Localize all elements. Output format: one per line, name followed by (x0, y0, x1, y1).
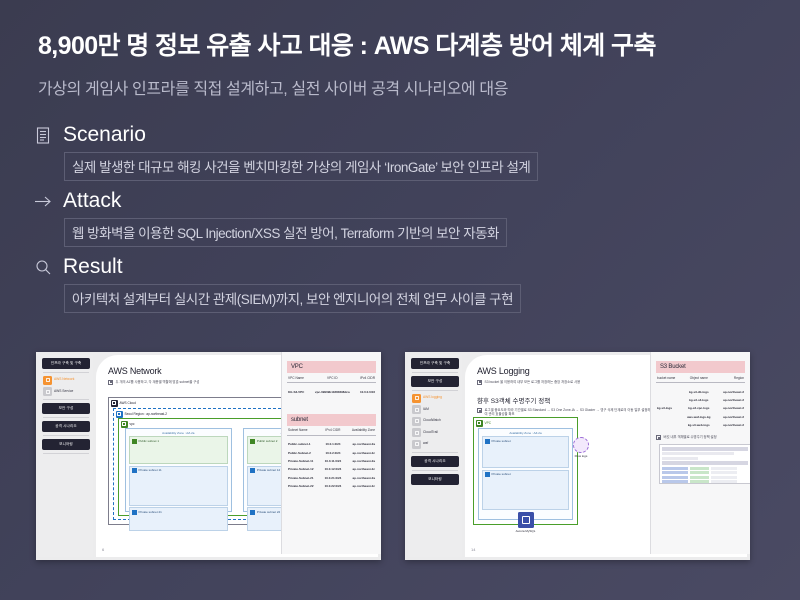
section-scenario-label: Scenario (63, 123, 146, 147)
sidebar-item-aws-network[interactable]: AWS Network (43, 376, 90, 385)
cell-subnet-az: ap-northeast-2a (345, 457, 376, 465)
sidebar-item-label: CloudWatch (423, 419, 441, 423)
screenshot-row (662, 480, 748, 483)
checkbox-icon (477, 380, 482, 385)
screenshot-status (690, 467, 709, 470)
section-result: Result 아키텍처 설계부터 실시간 관제(SIEM)까지, 보안 엔지니어… (34, 255, 800, 313)
slide-right-sidebar: 인프라 구축 및 구축 보안 구성 AWS logging IAM CloudW… (408, 355, 462, 557)
column-header: Subnet Name (287, 426, 321, 436)
subnet-icon (250, 510, 255, 515)
subnet-icon (250, 468, 255, 473)
sidebar-divider (412, 372, 458, 373)
slide-right-note2: 로그별 중요도와 따라 기간별로 S3 Standard → S3 One Zo… (477, 408, 652, 417)
sidebar-divider (43, 453, 89, 454)
cell-region: ap-northeast-2 (715, 396, 745, 404)
availability-zone-2a: Availability Zone : AZ-2a Private subnet… (478, 428, 573, 520)
subnet-label: Private subnet 22 (257, 510, 280, 514)
cell-bucket-name (656, 387, 682, 395)
cloudwatch-icon (412, 417, 421, 426)
sidebar-divider (412, 390, 458, 391)
table-row: Private-Subnet-11 10.0.11.0/24 ap-northe… (287, 457, 376, 465)
column-header: Region (715, 373, 745, 383)
slide-right-tables: S3 Bucket bucket name Object name Region… (650, 352, 750, 554)
cell-object-name: kg-s3-vpc-logs (682, 404, 715, 412)
screenshot-line (662, 452, 734, 455)
screenshot-status (690, 471, 709, 474)
column-header: bucket name (656, 373, 682, 383)
sidebar-pill-infra[interactable]: 인프라 구축 및 구축 (411, 358, 459, 369)
screenshot-cell (711, 476, 737, 479)
cell-subnet-az: ap-northeast-2a (345, 474, 376, 482)
arrow-right-icon (34, 192, 53, 211)
section-result-desc: 아키텍처 설계부터 실시간 관제(SIEM)까지, 보안 엔지니어의 전체 업무… (64, 284, 521, 313)
slide-left-tables: VPC VPC Name VPC ID IPv4 CIDR KG-S3-VPC … (281, 352, 381, 554)
sidebar-pill-attack[interactable]: 공격 시나리오 (411, 456, 459, 467)
vpc-label: VPC (474, 418, 577, 427)
subnet-icon (132, 510, 137, 515)
slide-right-page-number: 14 (471, 547, 475, 552)
cell-subnet-cidr: 10.0.2.0/24 (321, 449, 344, 457)
table-row: aws-waf-logs-kg ap-northeast-2 (656, 413, 745, 421)
vpc-table: VPC VPC Name VPC ID IPv4 CIDR KG-S3-VPC … (287, 361, 376, 396)
page-title: 8,900만 명 정보 유출 사고 대응 : AWS 다계층 방어 체계 구축 (38, 26, 800, 62)
cell-bucket-name (656, 396, 682, 404)
checkbox-icon (108, 380, 113, 385)
cell-subnet-name: Private-Subnet-21 (287, 474, 321, 482)
cell-subnet-az: ap-northeast-2a (345, 440, 376, 448)
cell-subnet-cidr: 10.0.11.0/24 (321, 457, 344, 465)
screenshot-link (662, 476, 688, 479)
section-attack-desc: 웹 방화벽을 이용한 SQL Injection/XSS 실전 방어, Terr… (64, 218, 507, 247)
private-subnet-11: Private subnet 11 (129, 466, 228, 506)
sidebar-pill-security[interactable]: 보안 구성 (411, 376, 459, 387)
region-icon (116, 411, 123, 418)
public-subnet-1: Public subnet 1 (129, 436, 228, 464)
column-header: VPC ID (310, 373, 355, 383)
section-scenario-desc: 실제 발생한 대규모 해킹 사건을 벤치마킹한 가상의 게임사 ‘IronGat… (64, 152, 538, 181)
screenshot-status (690, 480, 709, 483)
table-row: KG-S3-VPC vpc-09909b11883698dca 10.0.0.0… (287, 387, 376, 395)
table-row: kg-s3-db-logs ap-northeast-2 (656, 387, 745, 395)
cell-subnet-name: Public-Subnet-2 (287, 449, 321, 457)
document-icon (34, 126, 53, 145)
section-attack-head: Attack (34, 189, 800, 213)
cell-vpc-name: KG-S3-VPC (287, 387, 310, 395)
screenshot-link (662, 480, 688, 483)
section-result-label: Result (63, 255, 123, 279)
subnet-label: Private subnet 21 (139, 510, 162, 514)
slide-thumbnail-network[interactable]: 인프라 구축 및 구축 AWS Network AWS Service 보안 구… (36, 352, 381, 560)
flow-logs-label: Flow logs (565, 454, 597, 458)
section-scenario: Scenario 실제 발생한 대규모 해킹 사건을 벤치마킹한 가상의 게임사… (34, 123, 800, 181)
screenshot-link (662, 467, 688, 470)
subnet-label: Private subnet 11 (139, 468, 162, 472)
sidebar-divider (412, 452, 458, 453)
label-text: Seoul Region : ap-northeast-2 (125, 412, 168, 416)
private-subnet-lower: Private subnet (482, 470, 569, 510)
screenshot-toolbar (662, 461, 748, 465)
aurora-mysql-label: Aurora MySQL (479, 529, 572, 533)
table-row: Public-Subnet-2 10.0.2.0/24 ap-northeast… (287, 449, 376, 457)
lifecycle-note: 버킷 내부 객체별로 수명주기 정책 설정 (656, 435, 746, 440)
label-text: AWS Cloud (120, 401, 136, 405)
cell-region: ap-northeast-2 (715, 404, 745, 412)
table-row: Private-Subnet-22 10.0.22.0/24 ap-northe… (287, 482, 376, 490)
cell-bucket-name: kg-s3-logs (656, 404, 682, 412)
sidebar-item-label: AWS logging (423, 396, 442, 400)
sidebar-pill-attack[interactable]: 공격 시나리오 (42, 421, 90, 432)
screenshot-cell (711, 467, 737, 470)
sidebar-pill-monitoring[interactable]: 보니어링 (42, 439, 90, 450)
cell-subnet-name: Private-Subnet-11 (287, 457, 321, 465)
vpc-icon (121, 421, 128, 428)
subnet-icon (132, 468, 137, 473)
subnet-label: Public subnet 1 (139, 439, 160, 443)
sidebar-item-label: AWS Network (54, 378, 74, 382)
table-row: kg-s3-logs kg-s3-vpc-logs ap-northeast-2 (656, 404, 745, 412)
waf-icon (412, 440, 421, 449)
subnet-icon (485, 472, 490, 477)
slide-left-page-number: 6 (102, 547, 104, 552)
label-text: vpc (130, 422, 135, 426)
subnet-icon (250, 439, 255, 444)
search-icon (34, 258, 53, 277)
slide-left-note: 두 개의 AZ를 사용하고, 각 계층별 역할에 맞춘 subnet을 구성 (108, 380, 283, 385)
screenshot-status (690, 476, 709, 479)
private-subnet-upper: Private subnet (482, 436, 569, 468)
column-header: VPC Name (287, 373, 310, 383)
cell-region: ap-northeast-2 (715, 387, 745, 395)
screenshot-row (662, 476, 748, 479)
cell-bucket-name (656, 413, 682, 421)
aws-cloud-icon (111, 400, 118, 407)
screenshot-cell (711, 471, 737, 474)
cell-object-name: aws-waf-logs-kg (682, 413, 715, 421)
cell-region: ap-northeast-2 (715, 413, 745, 421)
subnet-table-title: subnet (287, 414, 376, 426)
availability-zone-2a: Availability Zone : AZ-2a Public subnet … (125, 428, 232, 512)
sidebar-item-cloudtrail[interactable]: CloudTrail (412, 428, 459, 437)
iam-icon (412, 405, 421, 414)
page-header: 8,900만 명 정보 유출 사고 대응 : AWS 다계층 방어 체계 구축 … (0, 0, 800, 99)
section-attack: Attack 웹 방화벽을 이용한 SQL Injection/XSS 실전 방… (34, 189, 800, 247)
logging-vpc-diagram: VPC Availability Zone : AZ-2a Private su… (473, 417, 578, 525)
cell-subnet-az: ap-northeast-2c (345, 465, 376, 473)
vpc-icon (476, 420, 483, 427)
cell-region: ap-northeast-2 (715, 421, 745, 429)
sidebar-divider (43, 372, 89, 373)
service-icon (43, 387, 52, 396)
sidebar-item-cloudwatch[interactable]: CloudWatch (412, 417, 459, 426)
flow-logs-icon (573, 437, 589, 453)
sidebar-pill-monitoring[interactable]: 모니터링 (411, 474, 459, 485)
subnet-label: Private subnet (492, 472, 511, 476)
label-text: VPC (485, 421, 492, 425)
logging-icon (412, 394, 421, 403)
network-icon (43, 376, 52, 385)
sidebar-pill-infra[interactable]: 인프라 구축 및 구축 (42, 358, 90, 369)
cell-subnet-cidr: 10.0.22.0/24 (321, 482, 344, 490)
vpc-table-title: VPC (287, 361, 376, 373)
s3-table-title: S3 Bucket (656, 361, 745, 373)
subnet-icon (132, 439, 137, 444)
subnet-label: Private subnet (492, 439, 511, 443)
note-text: 로그별 중요도와 따라 기간별로 S3 Standard → S3 One Zo… (485, 408, 653, 417)
sidebar-item-aws-logging[interactable]: AWS logging (412, 394, 459, 403)
note-text: 두 개의 AZ를 사용하고, 각 계층별 역할에 맞춘 subnet을 구성 (116, 380, 200, 385)
screenshot-link (662, 471, 688, 474)
sidebar-item-waf[interactable]: waf (412, 440, 459, 449)
cell-subnet-name: Private-Subnet-12 (287, 465, 321, 473)
slide-thumbnail-logging[interactable]: 인프라 구축 및 구축 보안 구성 AWS logging IAM CloudW… (405, 352, 750, 560)
cell-subnet-cidr: 10.0.21.0/24 (321, 474, 344, 482)
slide-right-note: S3 bucket 을 이용하여 내부 모든 로그를 저장하는 중앙 저장소로 … (477, 380, 652, 385)
column-header: Availability Zone (345, 426, 376, 436)
sidebar-item-label: AWS Service (54, 390, 73, 394)
sidebar-pill-security[interactable]: 보안 구성 (42, 403, 90, 414)
az-title: Availability Zone : AZ-2a (126, 429, 231, 435)
section-scenario-head: Scenario (34, 123, 800, 147)
page-subtitle: 가상의 게임사 인프라를 직접 설계하고, 실전 사이버 공격 시나리오에 대응 (38, 75, 800, 99)
screenshot-row (662, 471, 748, 474)
subnet-label: Public subnet 2 (257, 439, 278, 443)
cloudtrail-icon (412, 428, 421, 437)
sidebar-item-iam[interactable]: IAM (412, 405, 459, 414)
aurora-mysql-icon (518, 512, 534, 528)
cell-vpc-cidr: 10.0.0.0/16 (355, 387, 376, 395)
section-attack-label: Attack (63, 189, 121, 213)
private-subnet-21: Private subnet 21 (129, 507, 228, 531)
sidebar-divider (412, 470, 458, 471)
sidebar-divider (43, 417, 89, 418)
s3-bucket-table: S3 Bucket bucket name Object name Region… (656, 361, 745, 429)
screenshot-line (662, 457, 698, 460)
screenshot-header-bar (662, 447, 748, 451)
table-row: Public-subnet-1 10.0.1.0/24 ap-northeast… (287, 440, 376, 448)
console-screenshot (659, 444, 750, 484)
table-row: Private-Subnet-12 10.0.12.0/24 ap-northe… (287, 465, 376, 473)
cell-bucket-name (656, 421, 682, 429)
table-row: kg-s3-web-logs ap-northeast-2 (656, 421, 745, 429)
note-text: 버킷 내부 객체별로 수명주기 정책 설정 (664, 435, 717, 440)
sidebar-divider (43, 399, 89, 400)
cell-subnet-cidr: 10.0.12.0/24 (321, 465, 344, 473)
cell-object-name: kg-s3-web-logs (682, 421, 715, 429)
sidebar-item-label: CloudTrail (423, 431, 438, 435)
subnet-label: Private subnet 12 (257, 468, 280, 472)
sidebar-divider (43, 435, 89, 436)
subnet-table: subnet Subnet Name IPv4 CIDR Availabilit… (287, 414, 376, 491)
slide-left-sidebar: 인프라 구축 및 구축 AWS Network AWS Service 보안 구… (39, 355, 93, 557)
table-row: kg-s3-s3-logs ap-northeast-2 (656, 396, 745, 404)
cell-vpc-id: vpc-09909b11883698dca (310, 387, 355, 395)
sidebar-item-aws-service[interactable]: AWS Service (43, 387, 90, 396)
cell-subnet-az: ap-northeast-2c (345, 449, 376, 457)
screenshot-cell (711, 480, 737, 483)
slide-thumbnail-strip: 인프라 구축 및 구축 AWS Network AWS Service 보안 구… (36, 352, 750, 560)
cell-subnet-name: Private-Subnet-22 (287, 482, 321, 490)
cell-subnet-name: Public-subnet-1 (287, 440, 321, 448)
section-list: Scenario 실제 발생한 대규모 해킹 사건을 벤치마킹한 가상의 게임사… (0, 123, 800, 313)
cell-subnet-cidr: 10.0.1.0/24 (321, 440, 344, 448)
table-row: Private-Subnet-21 10.0.21.0/24 ap-northe… (287, 474, 376, 482)
cell-subnet-az: ap-northeast-2c (345, 482, 376, 490)
sidebar-item-label: waf (423, 442, 428, 446)
note-text: S3 bucket 을 이용하여 내부 모든 로그를 저장하는 중앙 저장소로 … (485, 380, 581, 385)
section-result-head: Result (34, 255, 800, 279)
checkbox-icon (656, 435, 661, 440)
az-title: Availability Zone : AZ-2a (479, 429, 572, 435)
column-header: IPv4 CIDR (355, 373, 376, 383)
screenshot-row (662, 467, 748, 470)
sidebar-item-label: IAM (423, 408, 429, 412)
checkbox-icon (477, 408, 482, 413)
subnet-icon (485, 439, 490, 444)
cell-object-name: kg-s3-db-logs (682, 387, 715, 395)
column-header: IPv4 CIDR (321, 426, 344, 436)
column-header: Object name (682, 373, 715, 383)
cell-object-name: kg-s3-s3-logs (682, 396, 715, 404)
